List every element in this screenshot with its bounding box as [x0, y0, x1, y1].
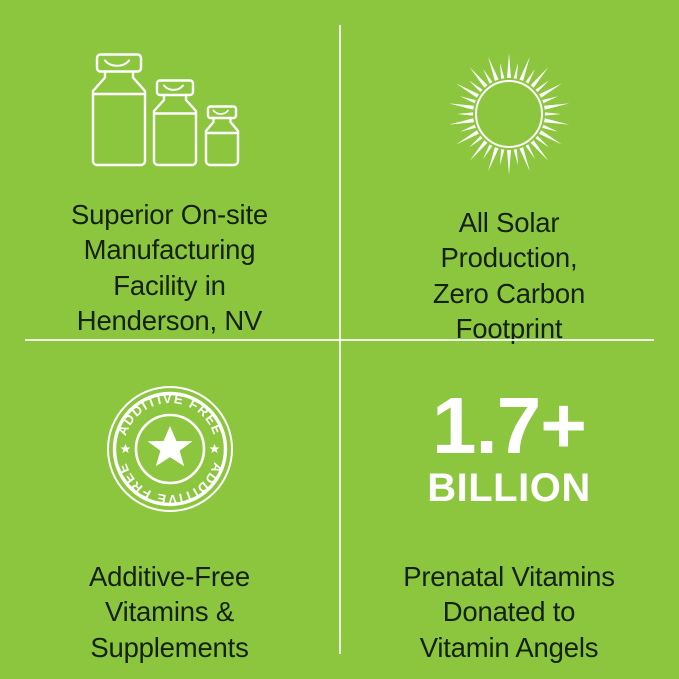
panel-additive-free: ADDITIVE FREE ADDITIVE FREE Additive-Fre…: [0, 339, 339, 679]
sun-ray: [507, 53, 511, 78]
panel-solar: All Solar Production, Zero Carbon Footpr…: [339, 0, 679, 339]
sun-ray: [470, 140, 488, 160]
panel-caption: Additive-Free Vitamins & Supplements: [89, 559, 250, 665]
panel-caption: All Solar Production, Zero Carbon Footpr…: [433, 205, 585, 347]
panel-caption: Prenatal Vitamins Donated to Vitamin Ang…: [403, 559, 615, 665]
badge-star-left: [120, 444, 130, 453]
sun-ray: [531, 67, 549, 87]
donation-stat-icon: 1.7+ BILLION: [427, 385, 590, 513]
sun-ray: [507, 150, 511, 175]
sun-ray: [469, 136, 482, 148]
badge-star-right: [209, 444, 219, 453]
sun-ray: [544, 103, 569, 109]
sun-ray: [519, 57, 529, 81]
sun-ray: [544, 118, 569, 124]
panel-caption: Superior On-site Manufacturing Facility …: [71, 197, 268, 339]
sun-ray: [514, 63, 518, 79]
sun-ray: [514, 149, 518, 165]
badge-center-star: [147, 426, 192, 466]
sun-ray: [460, 125, 476, 132]
sun-ray: [536, 136, 549, 148]
sun-icon: [447, 52, 571, 176]
sun-ray: [531, 140, 549, 160]
sun-ray: [542, 96, 558, 103]
sun-ray: [449, 103, 474, 109]
horizontal-divider: [25, 339, 654, 341]
sun-ray: [519, 147, 529, 171]
sun-ray: [460, 96, 476, 103]
benefits-infographic: Superior On-site Manufacturing Facility …: [0, 0, 679, 679]
sun-ray: [500, 63, 504, 79]
sun-ray: [457, 112, 473, 115]
sun-ray: [542, 125, 558, 132]
sun-ray: [449, 118, 474, 124]
sun-ray: [536, 81, 549, 93]
sun-ray: [483, 69, 492, 84]
sun-ray: [483, 144, 492, 159]
panel-manufacturing: Superior On-site Manufacturing Facility …: [0, 0, 339, 339]
sun-ray: [470, 67, 488, 87]
sun-ray: [526, 69, 535, 84]
additive-free-badge-icon: ADDITIVE FREE ADDITIVE FREE: [106, 385, 234, 513]
stat-unit: BILLION: [427, 467, 590, 509]
sun-ray: [488, 57, 498, 81]
stat-number: 1.7+: [432, 389, 586, 463]
sun-ray: [500, 149, 504, 165]
sun-ray: [545, 112, 561, 115]
sun-ray: [488, 147, 498, 171]
sun-ray: [469, 81, 482, 93]
panel-donations: 1.7+ BILLION Prenatal Vitamins Donated t…: [339, 339, 679, 679]
sun-ray: [526, 144, 535, 159]
supplement-bottles-icon: [77, 52, 263, 168]
